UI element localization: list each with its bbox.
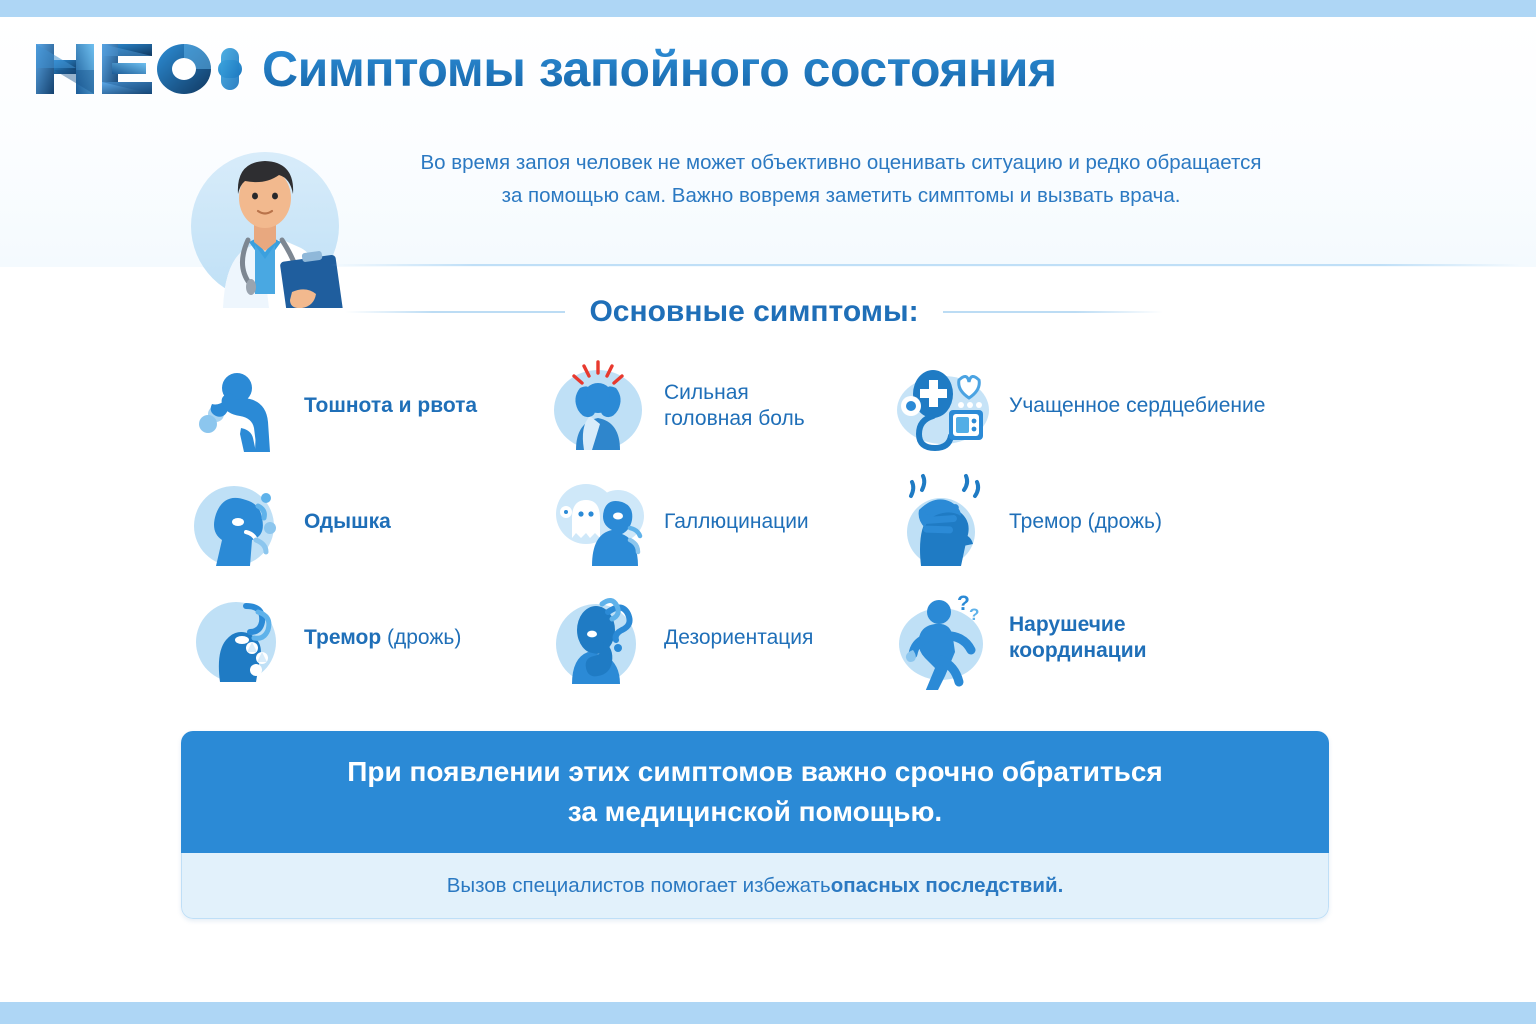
shortness-of-breath-icon [186, 470, 290, 574]
intro-line-1: Во время запоя человек не может объектив… [420, 151, 1261, 174]
neo-plus-logo [32, 38, 244, 100]
symptom-item: Сильная головная боль [546, 348, 891, 464]
bottom-accent-bar [0, 1002, 1536, 1024]
vomiting-person-icon [186, 354, 290, 458]
section-rule-right [943, 311, 1163, 313]
headache-person-icon [546, 354, 650, 458]
tremor-sweating-icon [186, 586, 290, 690]
symptom-item: ? ? Нарушечие координации [891, 580, 1311, 696]
top-accent-bar [0, 0, 1536, 17]
svg-text:?: ? [957, 592, 970, 615]
cta-sub-emphasis: опасных последствий. [831, 874, 1064, 898]
symptom-label: Нарушечие координации [1009, 612, 1147, 663]
symptom-label: Тошнота и рвота [304, 393, 477, 419]
section-heading: Основные симптомы: [345, 288, 1163, 336]
page-header: Симптомы запойного состояния [0, 28, 1536, 110]
tremor-hands-head-icon [891, 470, 995, 574]
symptom-label: Тремор (дрожь) [304, 625, 461, 651]
section-rule-left [345, 311, 565, 313]
header-divider [330, 264, 1522, 266]
coordination-loss-icon: ? ? [891, 586, 995, 690]
cta-sub-prefix: Вызов специалистов помогает избежать [447, 874, 831, 898]
symptom-label: Галлюцинации [664, 509, 809, 535]
hallucinations-ghost-icon [546, 470, 650, 574]
symptoms-grid: Тошнота и рвота [186, 348, 1346, 696]
symptom-item: Тошнота и рвота [186, 348, 546, 464]
cta-line-2: за медицинской помощью. [568, 792, 942, 832]
symptom-label: Учащенное сердцебиение [1009, 393, 1265, 419]
symptom-item: Учащенное сердцебиение [891, 348, 1311, 464]
intro-line-2: за помощью сам. Важно вовремя заметить с… [358, 179, 1324, 212]
section-title: Основные симптомы: [589, 297, 918, 327]
cta-secondary-message: Вызов специалистов помогает избежать опа… [181, 853, 1329, 919]
symptom-label: Одышка [304, 509, 391, 535]
call-to-action-banner: При появлении этих симптомов важно срочн… [181, 731, 1329, 919]
disorientation-icon [546, 586, 650, 690]
intro-section: Во время запоя человек не может объектив… [0, 132, 1536, 242]
symptom-item: Галлюцинации [546, 464, 891, 580]
symptom-label: Дезориентация [664, 625, 813, 651]
cta-primary-message: При появлении этих симптомов важно срочн… [181, 731, 1329, 853]
symptom-item: Тремор (дрожь) [186, 580, 546, 696]
symptom-label: Тремор (дрожь) [1009, 509, 1162, 535]
infographic-poster: Симптомы запойного состояния [0, 0, 1536, 1024]
symptom-item: Одышка [186, 464, 546, 580]
symptom-label: Сильная головная боль [664, 380, 805, 431]
symptom-item: Тремор (дрожь) [891, 464, 1311, 580]
blood-pressure-monitor-icon [891, 354, 995, 458]
page-title: Симптомы запойного состояния [262, 44, 1057, 94]
svg-text:?: ? [969, 605, 979, 624]
intro-text: Во время запоя человек не может объектив… [358, 132, 1324, 212]
cta-line-1: При появлении этих симптомов важно срочн… [347, 752, 1163, 792]
symptom-item: Дезориентация [546, 580, 891, 696]
doctor-with-clipboard-illustration [176, 132, 354, 308]
